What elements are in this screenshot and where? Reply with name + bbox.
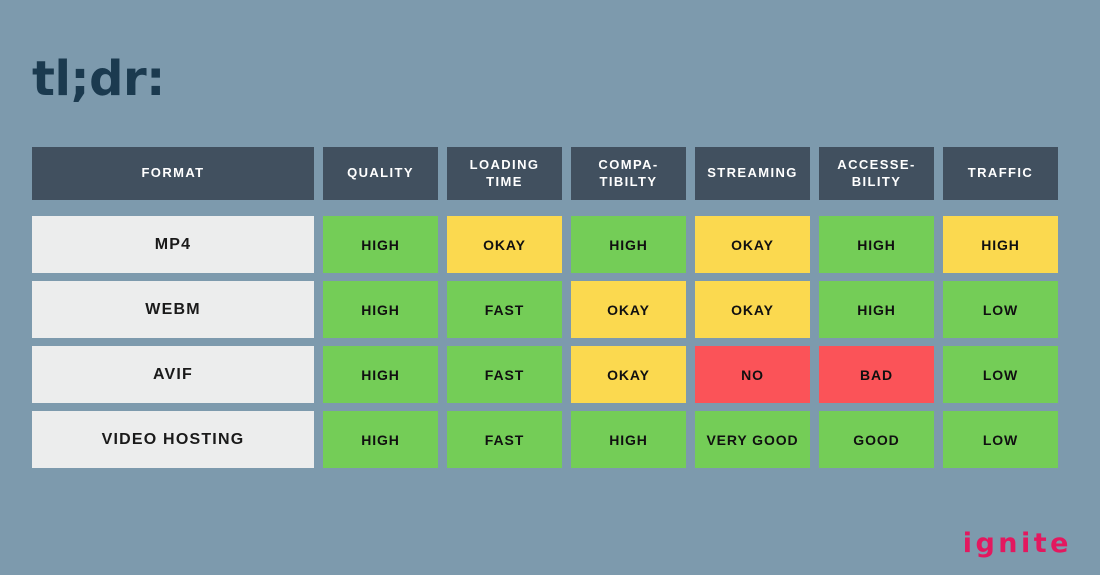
format-cell: MP4 (32, 216, 314, 273)
value-cell-green: HIGH (819, 281, 934, 338)
value-cell-yellow: HIGH (943, 216, 1058, 273)
format-cell: VIDEO HOSTING (32, 411, 314, 468)
value-cell-yellow: OKAY (447, 216, 562, 273)
column-header-compa-tibilty: COMPA- TIBILTY (571, 147, 686, 200)
value-cell-red: NO (695, 346, 810, 403)
format-cell: WEBM (32, 281, 314, 338)
value-cell-red: BAD (819, 346, 934, 403)
table-header-row: FORMATQUALITYLOADING TIMECOMPA- TIBILTYS… (32, 147, 1068, 200)
value-cell-yellow: OKAY (695, 216, 810, 273)
column-header-streaming: STREAMING (695, 147, 810, 200)
value-cell-yellow: OKAY (695, 281, 810, 338)
value-cell-green: HIGH (323, 411, 438, 468)
table-row: WEBMHIGHFASTOKAYOKAYHIGHLOW (32, 281, 1068, 338)
value-cell-green: HIGH (323, 281, 438, 338)
table-body: MP4HIGHOKAYHIGHOKAYHIGHHIGHWEBMHIGHFASTO… (32, 216, 1068, 468)
value-cell-green: LOW (943, 346, 1058, 403)
value-cell-green: LOW (943, 281, 1058, 338)
value-cell-green: FAST (447, 346, 562, 403)
column-header-loading-time: LOADING TIME (447, 147, 562, 200)
value-cell-green: FAST (447, 281, 562, 338)
table-row: MP4HIGHOKAYHIGHOKAYHIGHHIGH (32, 216, 1068, 273)
format-cell: AVIF (32, 346, 314, 403)
value-cell-yellow: OKAY (571, 346, 686, 403)
comparison-table: FORMATQUALITYLOADING TIMECOMPA- TIBILTYS… (32, 147, 1068, 468)
table-row: VIDEO HOSTINGHIGHFASTHIGHVERY GOODGOODLO… (32, 411, 1068, 468)
value-cell-green: HIGH (323, 216, 438, 273)
value-cell-green: HIGH (323, 346, 438, 403)
column-header-traffic: TRAFFIC (943, 147, 1058, 200)
column-header-format: FORMAT (32, 147, 314, 200)
slide-root: tl;dr: FORMATQUALITYLOADING TIMECOMPA- T… (0, 0, 1100, 575)
ignite-logo: ignite (963, 530, 1072, 557)
value-cell-green: FAST (447, 411, 562, 468)
page-title: tl;dr: (32, 55, 165, 103)
value-cell-green: HIGH (571, 216, 686, 273)
value-cell-green: HIGH (819, 216, 934, 273)
value-cell-green: VERY GOOD (695, 411, 810, 468)
table-row: AVIFHIGHFASTOKAYNOBADLOW (32, 346, 1068, 403)
value-cell-green: HIGH (571, 411, 686, 468)
column-header-accesse-bility: ACCESSE- BILITY (819, 147, 934, 200)
value-cell-green: GOOD (819, 411, 934, 468)
column-header-quality: QUALITY (323, 147, 438, 200)
value-cell-yellow: OKAY (571, 281, 686, 338)
value-cell-green: LOW (943, 411, 1058, 468)
